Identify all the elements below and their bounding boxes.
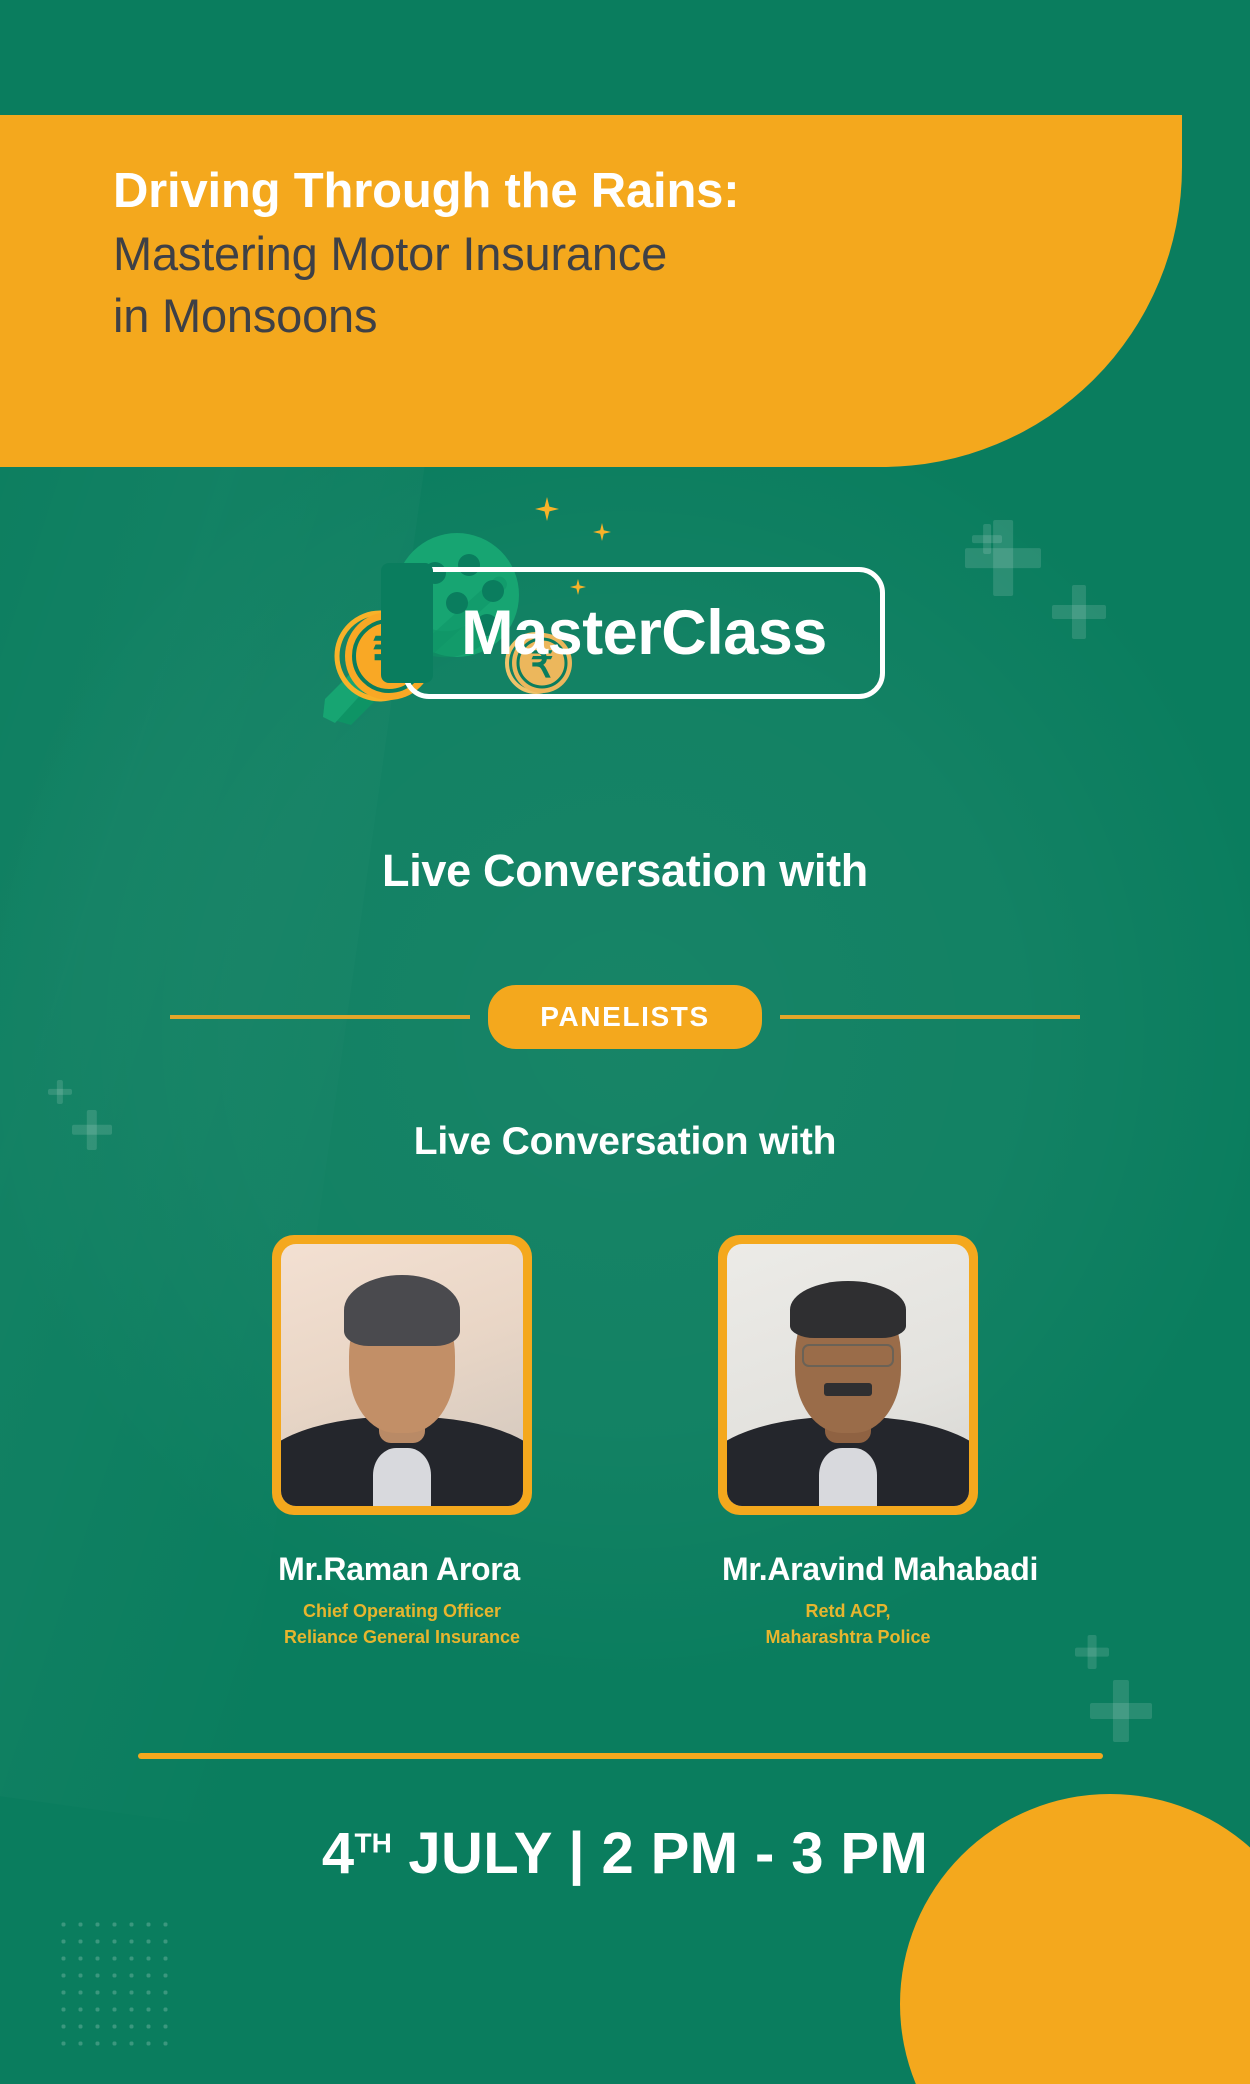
panelist-role-line-2: Maharashtra Police (718, 1625, 978, 1651)
panelist-photo-frame (272, 1235, 532, 1515)
panelist-card: Mr.Aravind Mahabadi Retd ACP, Maharashtr… (718, 1235, 978, 1650)
masterclass-brand-text: MasterClass (411, 573, 877, 693)
divider-line-right (780, 1015, 1080, 1019)
panelist-role-line-2: Reliance General Insurance (272, 1625, 532, 1651)
page-title-line-3: in Monsoons (113, 285, 1182, 347)
avatar (281, 1244, 523, 1506)
page-title-line-1: Driving Through the Rains: (113, 160, 1182, 223)
plus-decoration-icon (1090, 1680, 1152, 1742)
page-title-line-2: Mastering Motor Insurance (113, 223, 1182, 285)
dot-grid-decoration (55, 1916, 175, 2056)
sparkle-icon (593, 523, 611, 541)
panelist-role-line-1: Chief Operating Officer (272, 1599, 532, 1625)
heading-live-conversation-secondary: Live Conversation with (0, 1120, 1250, 1164)
panelist-card: Mr.Raman Arora Chief Operating Officer R… (272, 1235, 532, 1650)
heading-live-conversation-primary: Live Conversation with (0, 845, 1250, 897)
masterclass-logo: ₹ ₹ MasterClass (0, 545, 1250, 725)
footer-divider (138, 1753, 1103, 1759)
panelists-list: Mr.Raman Arora Chief Operating Officer R… (0, 1235, 1250, 1650)
date-rest: JULY | 2 PM - 3 PM (392, 1821, 928, 1886)
avatar (727, 1244, 969, 1506)
panelists-divider-row: PANELISTS (0, 985, 1250, 1049)
event-date-time: 4TH JULY | 2 PM - 3 PM (0, 1820, 1250, 1887)
divider-line-left (170, 1015, 470, 1019)
sparkle-icon (535, 497, 559, 521)
plus-decoration-icon (48, 1080, 72, 1104)
date-ordinal: TH (355, 1828, 392, 1859)
panelist-role-line-1: Retd ACP, (718, 1599, 978, 1625)
panelists-badge: PANELISTS (488, 985, 761, 1049)
date-day: 4 (322, 1821, 355, 1886)
panelist-photo-frame (718, 1235, 978, 1515)
header-banner: Driving Through the Rains: Mastering Mot… (0, 115, 1182, 467)
panelist-name: Mr.Aravind Mahabadi (722, 1551, 978, 1588)
event-poster: Driving Through the Rains: Mastering Mot… (0, 0, 1250, 2084)
panelist-name: Mr.Raman Arora (266, 1551, 532, 1588)
